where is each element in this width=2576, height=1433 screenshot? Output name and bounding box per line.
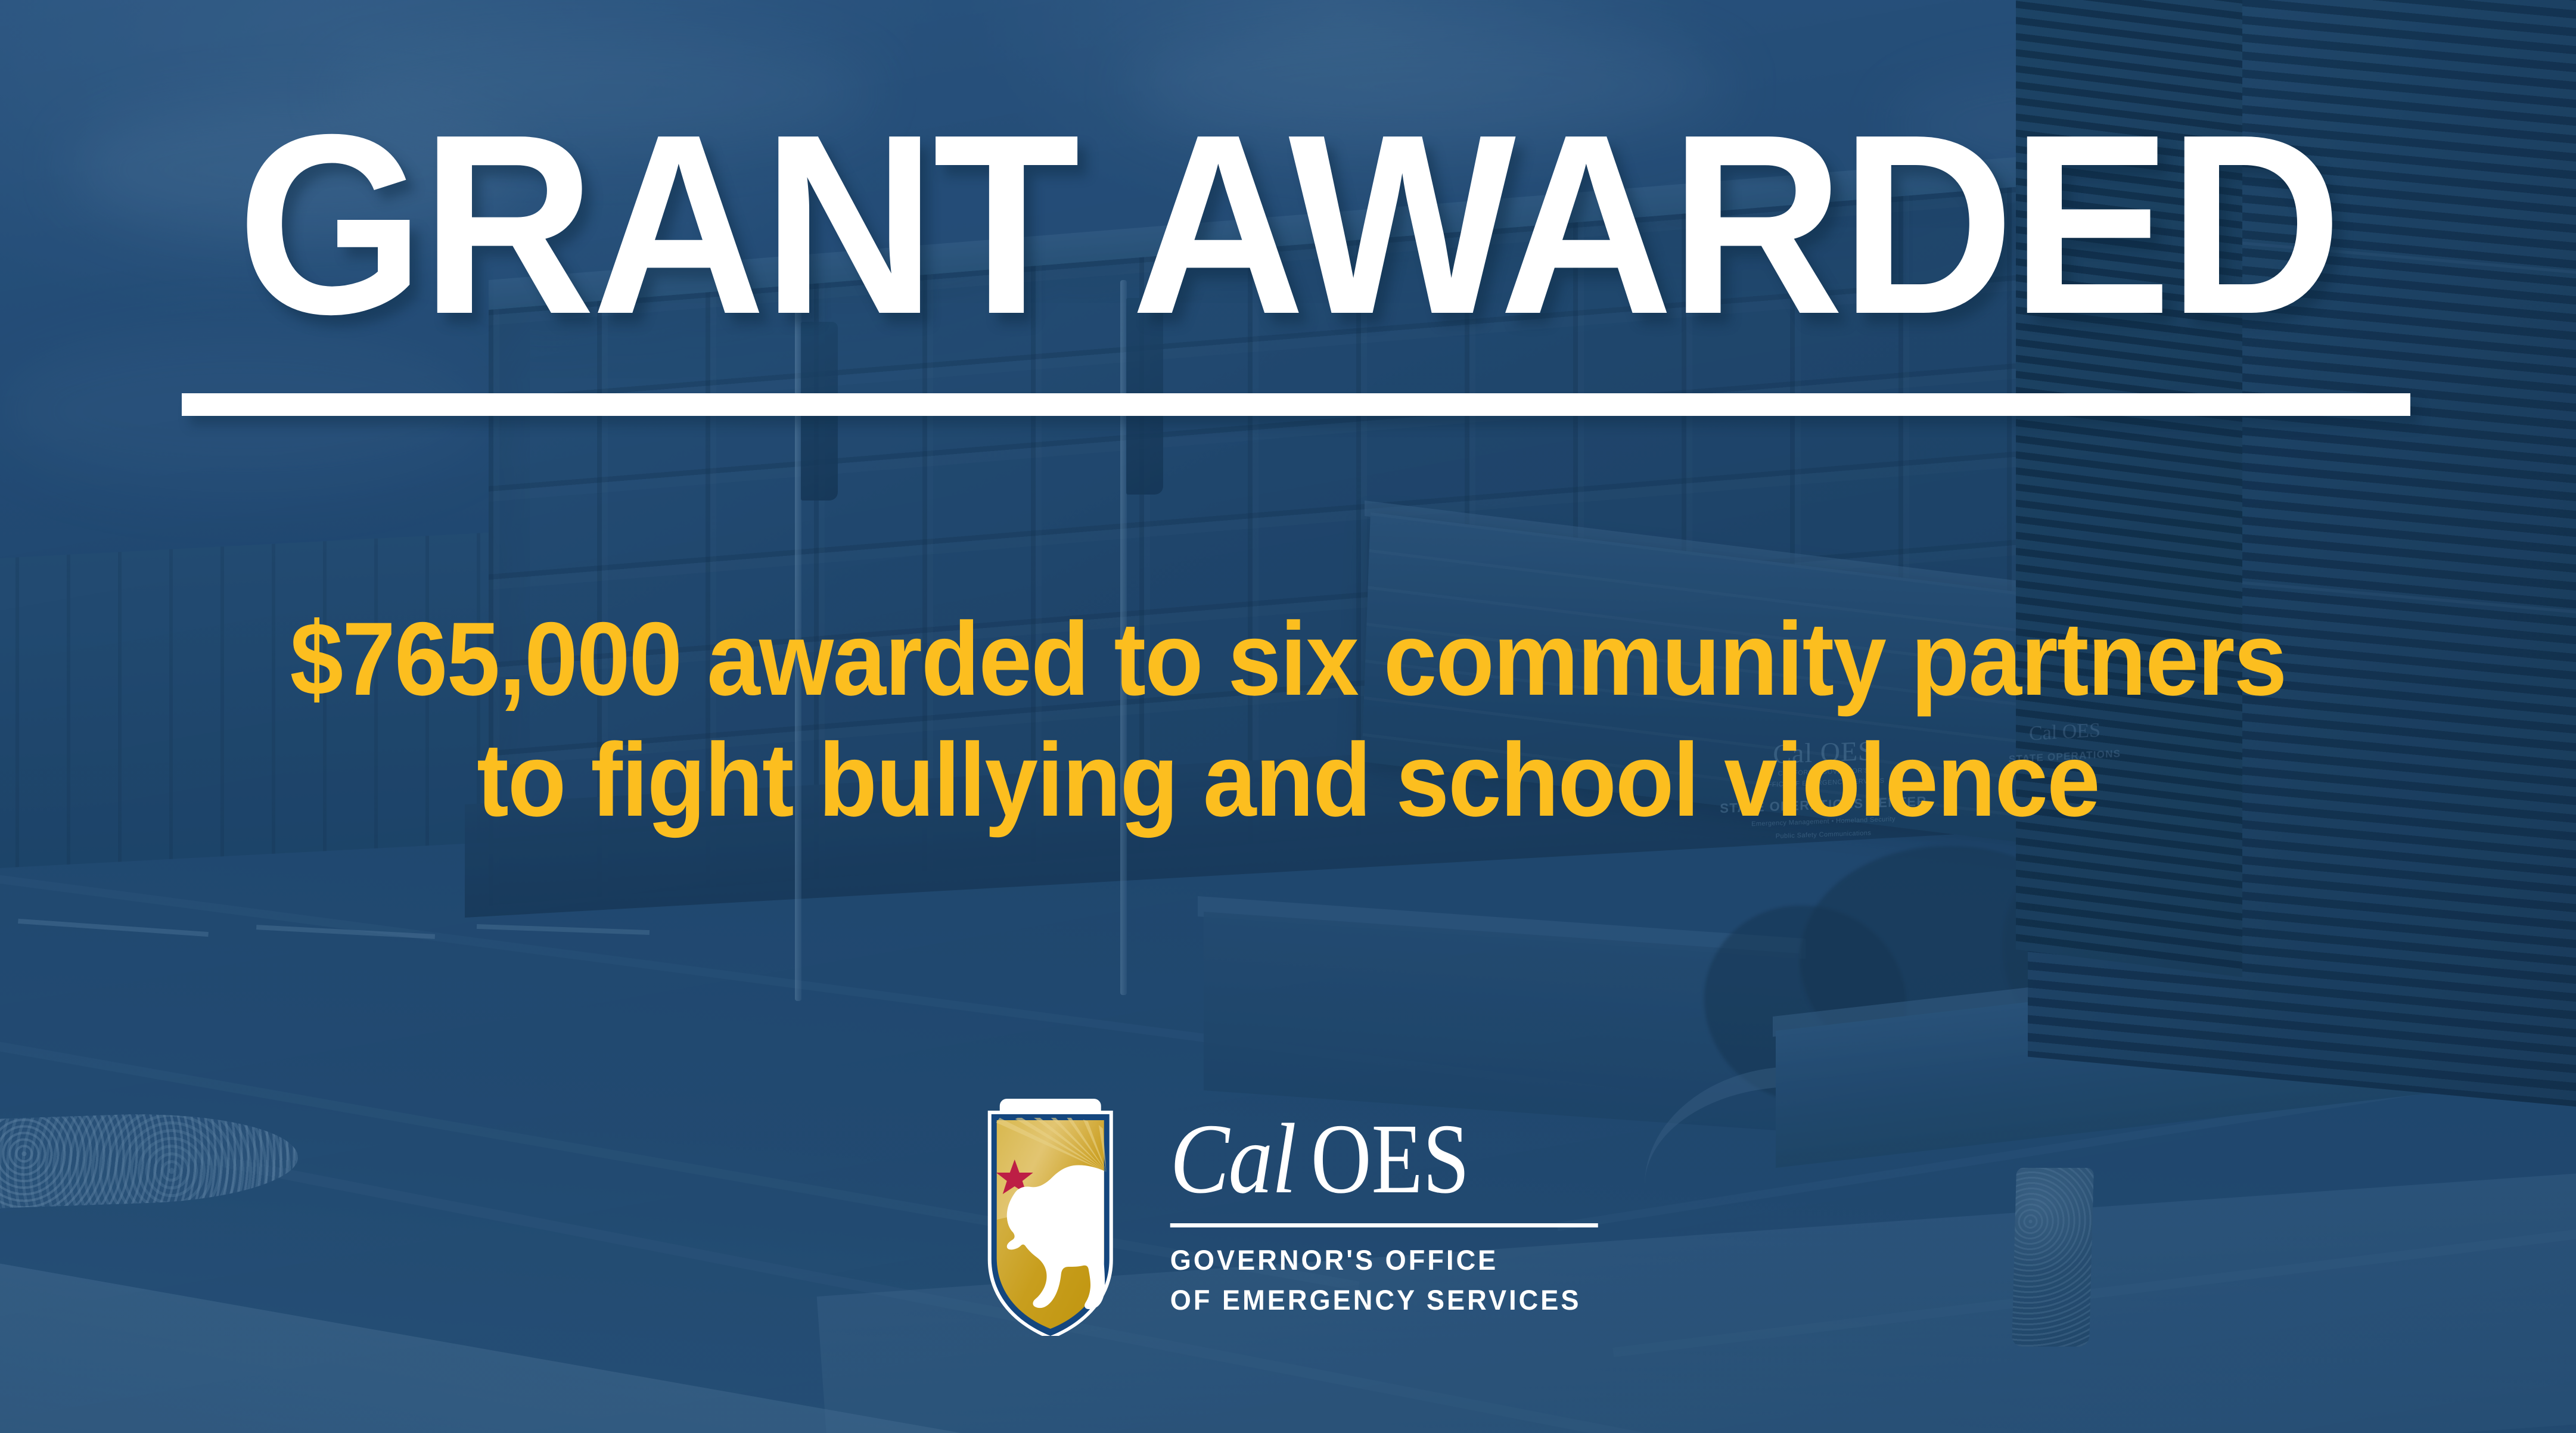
cal-oes-logo-lockup: Cal OES GOVERNOR'S OFFICE OF EMERGENCY S… xyxy=(978,1098,1598,1336)
logo-subtitle-line-2: OF EMERGENCY SERVICES xyxy=(1170,1280,1581,1320)
cal-oes-wordmark: Cal OES xyxy=(1170,1120,1598,1209)
page-title: GRANT AWARDED xyxy=(77,106,2499,344)
logo-subtitle-line-1: GOVERNOR'S OFFICE xyxy=(1170,1241,1581,1280)
wordmark-cal: Cal xyxy=(1170,1109,1295,1209)
title-underline-rule xyxy=(182,393,2410,416)
cal-oes-wordmark-block: Cal OES GOVERNOR'S OFFICE OF EMERGENCY S… xyxy=(1170,1114,1598,1320)
subheadline: $765,000 awarded to six community partne… xyxy=(103,599,2473,841)
grant-awarded-poster: Cal OES CALIFORNIA GOVERNOR'S OFFICE OF … xyxy=(0,0,2576,1433)
subheadline-line-1: $765,000 awarded to six community partne… xyxy=(103,599,2473,720)
wordmark-oes: OES xyxy=(1311,1109,1469,1209)
poster-content: GRANT AWARDED $765,000 awarded to six co… xyxy=(0,0,2576,1433)
california-bear-shield-icon xyxy=(978,1098,1122,1336)
subheadline-line-2: to fight bullying and school violence xyxy=(103,720,2473,841)
logo-divider-rule xyxy=(1170,1223,1598,1227)
